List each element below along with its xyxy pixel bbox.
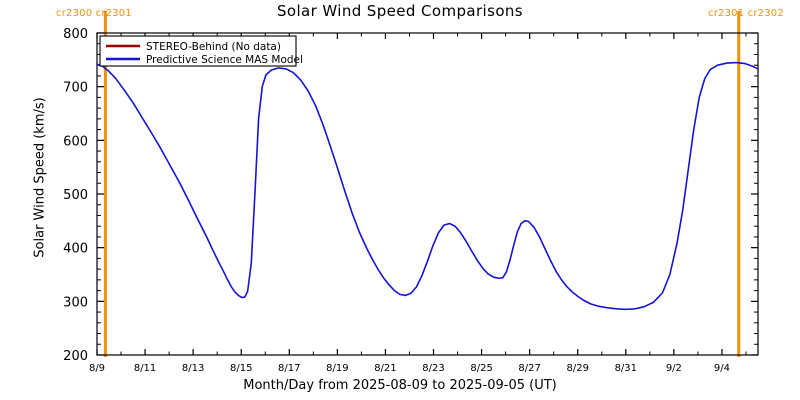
- y-tick-label: 800: [63, 27, 88, 42]
- x-tick-label: 8/27: [518, 363, 540, 374]
- x-tick-label: 8/25: [470, 363, 492, 374]
- mas-model-curve: [97, 63, 758, 310]
- y-tick-label: 200: [63, 349, 88, 364]
- x-tick-label: 8/29: [566, 363, 588, 374]
- y-tick-label: 400: [63, 242, 88, 257]
- x-tick-label: 8/19: [326, 363, 348, 374]
- x-axis-ticks: 8/98/118/138/158/178/198/218/238/258/278…: [89, 33, 746, 374]
- x-tick-label: 9/4: [714, 363, 730, 374]
- y-tick-label: 500: [63, 188, 88, 203]
- x-tick-label: 8/13: [182, 363, 204, 374]
- chart-container: Solar Wind Speed Comparisons cr2300 cr23…: [0, 0, 800, 400]
- legend-label-mas-model: Predictive Science MAS Model: [146, 54, 303, 66]
- y-tick-label: 300: [63, 295, 88, 310]
- legend-label-stereo-behind: STEREO-Behind (No data): [146, 41, 281, 53]
- legend: STEREO-Behind (No data)Predictive Scienc…: [100, 36, 303, 66]
- y-tick-label: 600: [63, 134, 88, 149]
- x-tick-label: 9/2: [666, 363, 682, 374]
- x-tick-label: 8/11: [134, 363, 156, 374]
- x-tick-label: 8/17: [278, 363, 300, 374]
- data-curves: [97, 63, 758, 310]
- y-axis-ticks: 200300400500600700800: [63, 27, 758, 364]
- plot-svg: 200300400500600700800 8/98/118/138/158/1…: [0, 0, 800, 400]
- y-tick-label: 700: [63, 81, 88, 96]
- x-tick-label: 8/31: [615, 363, 637, 374]
- x-tick-label: 8/15: [230, 363, 252, 374]
- x-tick-label: 8/23: [422, 363, 444, 374]
- plot-frame: [97, 33, 758, 355]
- x-tick-label: 8/21: [374, 363, 396, 374]
- x-tick-label: 8/9: [89, 363, 105, 374]
